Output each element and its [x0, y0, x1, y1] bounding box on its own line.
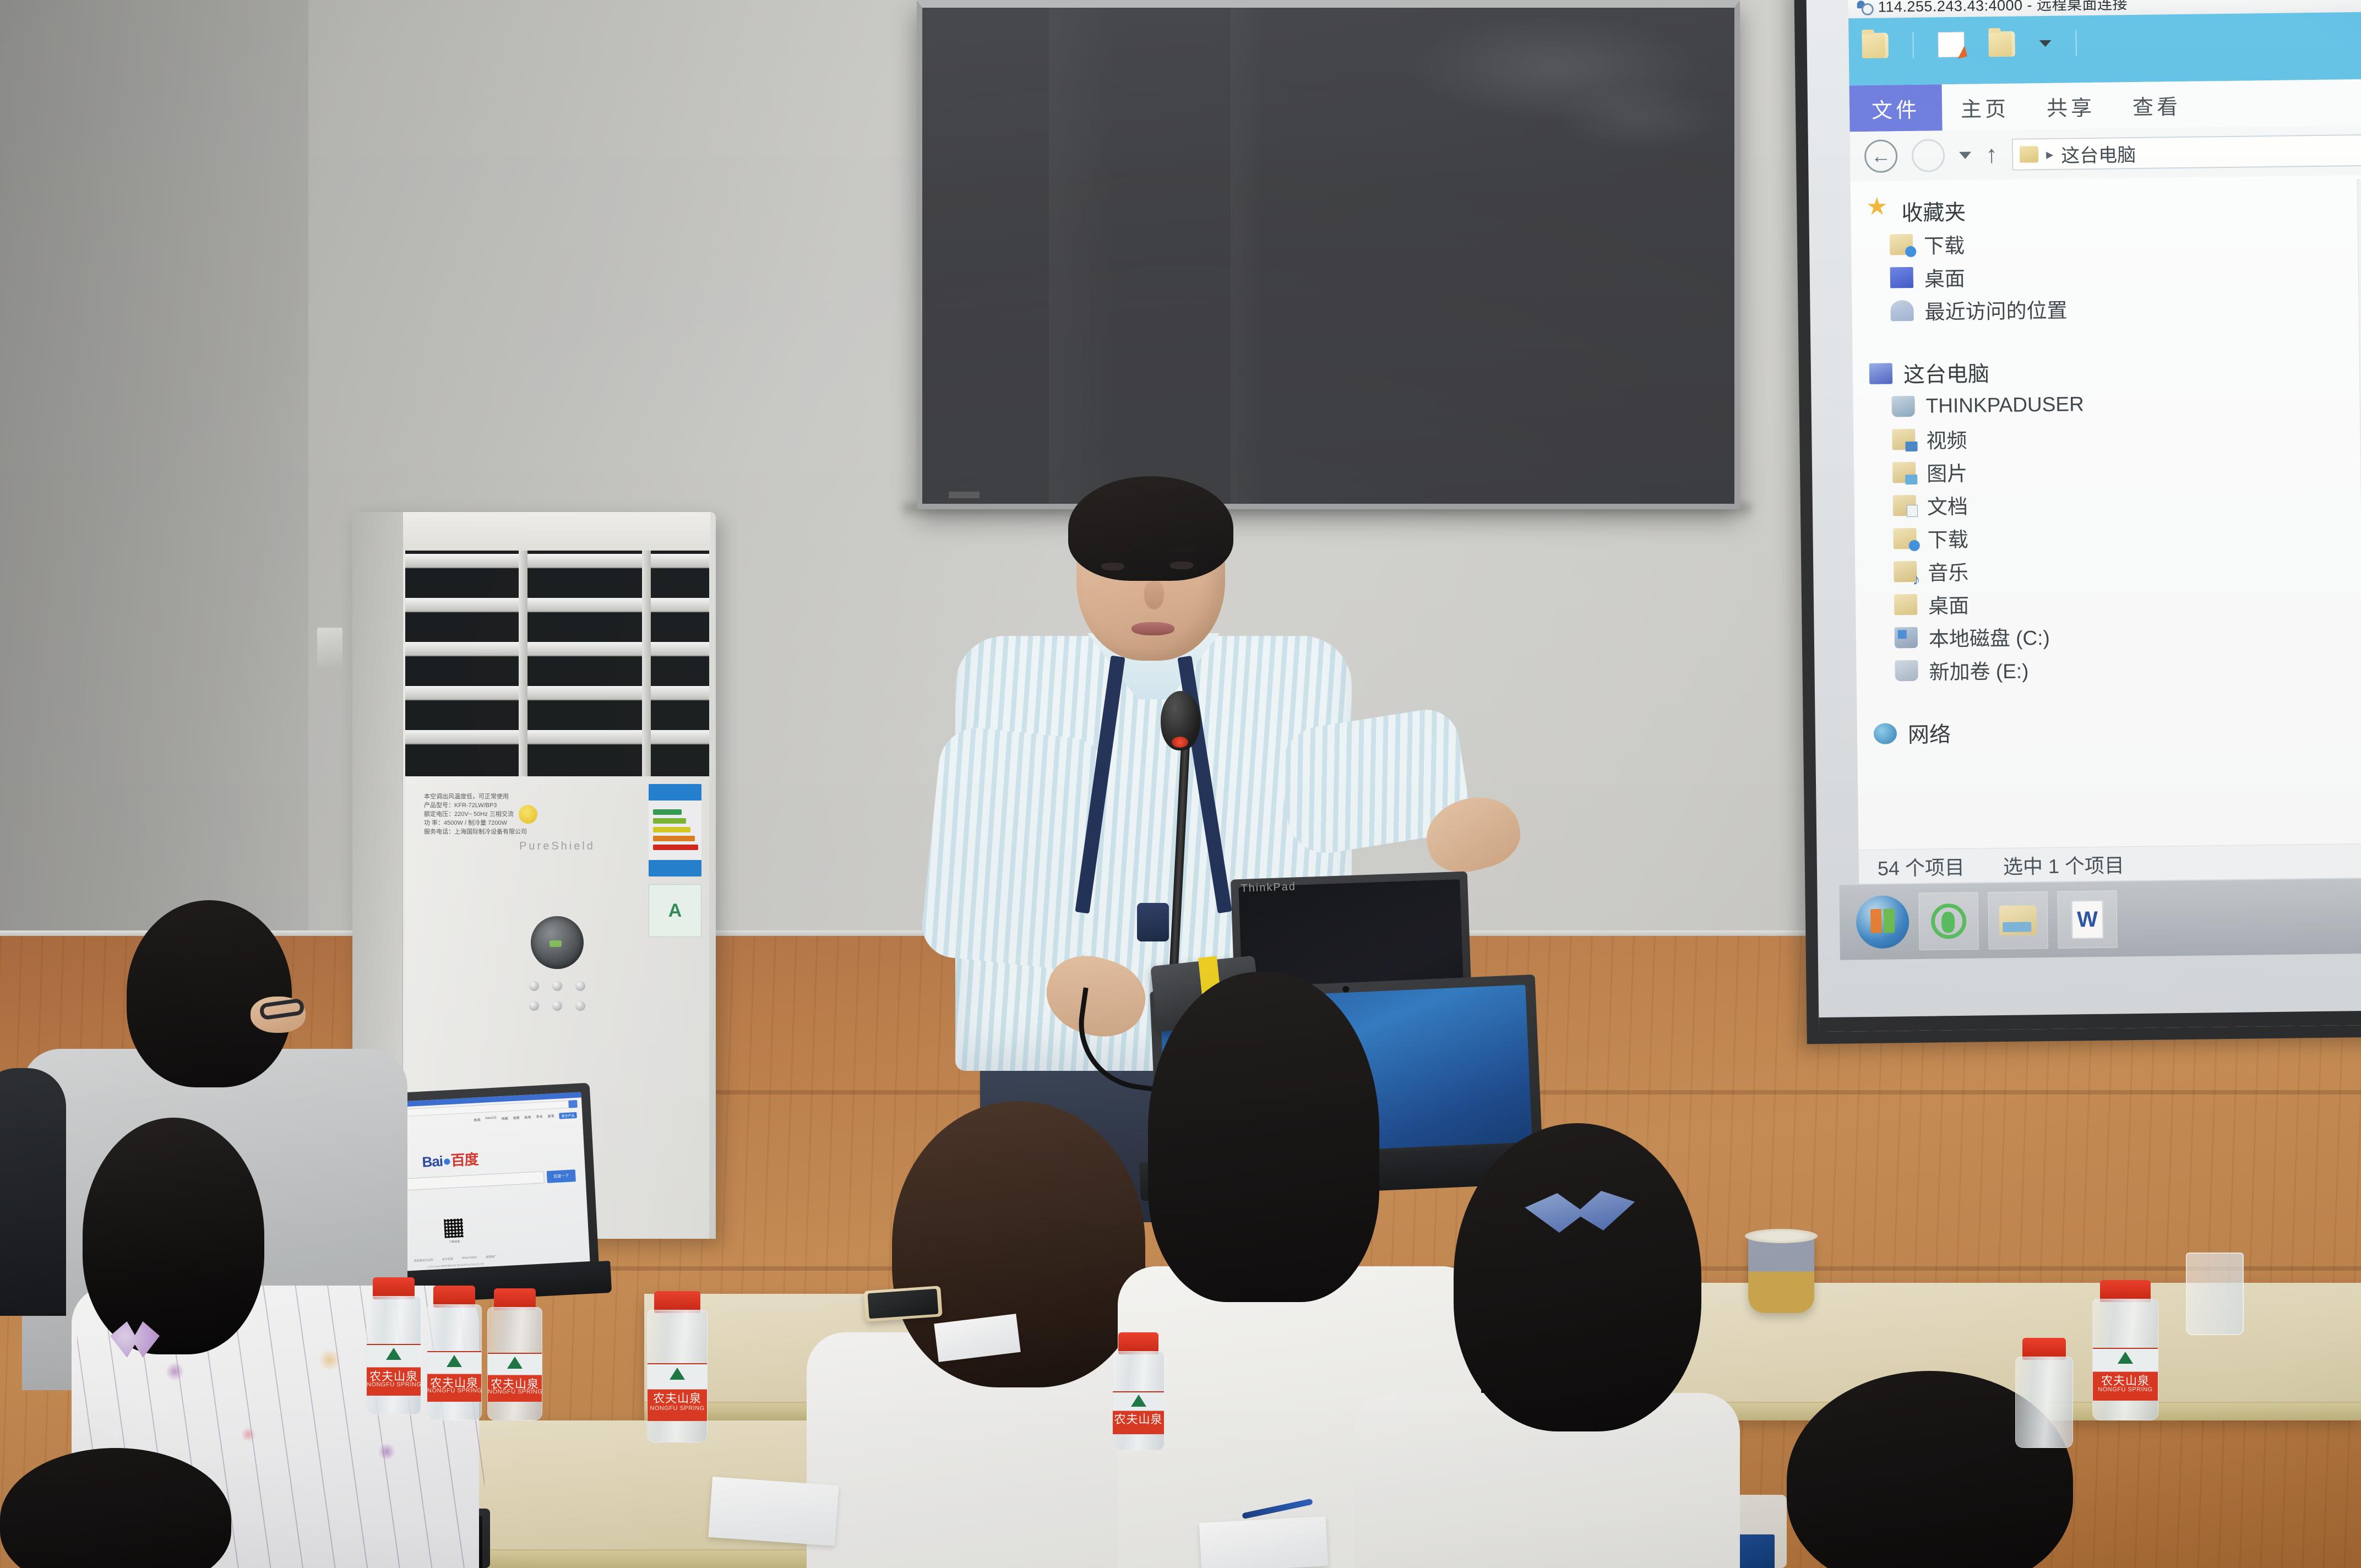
tree-label: 本地磁盘 (C:): [1928, 621, 2050, 652]
energy-saving-certificate-icon: A: [649, 884, 701, 937]
tree-label: 下载: [1924, 229, 1965, 259]
explorer-body: 收藏夹 下载 桌面 最近访问的位置: [1851, 175, 2361, 850]
ac-button[interactable]: [529, 981, 539, 991]
browser-taskbar-button[interactable]: [1918, 892, 1978, 950]
water-bottle[interactable]: 农夫山泉: [1112, 1332, 1165, 1451]
nav-link[interactable]: 地图: [501, 1115, 508, 1122]
tree-label: THINKPADUSER: [1925, 393, 2084, 418]
bottle-brand-en: NONGFU SPRING: [648, 1405, 707, 1412]
videos-folder-icon: [1892, 429, 1915, 450]
ac-button[interactable]: [575, 981, 585, 991]
microphone-led-indicator: [1172, 737, 1188, 748]
tree-label: 桌面: [1924, 262, 1966, 292]
bottle-brand-cn: 农夫山泉: [2093, 1375, 2158, 1387]
student-gray-sweatshirt-head: [127, 900, 292, 1087]
presenter-hair: [1068, 476, 1233, 581]
tree-label: 收藏夹: [1901, 195, 1966, 227]
tree-label: 音乐: [1928, 556, 1969, 586]
bottle-brand-cn: 农夫山泉: [648, 1392, 707, 1405]
ac-notice-line: 服务电话：上海国际制冷设备有限公司: [424, 828, 538, 837]
desktop-icon: [1890, 267, 1913, 288]
volume-icon: [1895, 660, 1918, 682]
tree-label: 文档: [1927, 490, 1968, 520]
folder-icon: [1999, 905, 2037, 935]
navigation-pane[interactable]: 收藏夹 下载 桌面 最近访问的位置: [1851, 175, 2361, 850]
back-arrow-icon[interactable]: ←: [1864, 139, 1898, 173]
presenter-eye-right: [1170, 562, 1193, 569]
thinkpad-logo: ThinkPad: [1241, 880, 1296, 895]
pictures-folder-icon: [1892, 462, 1916, 483]
remote-desktop-icon: [1857, 0, 1872, 13]
bottle-body: 农夫山泉 NONGFU SPRING: [2092, 1299, 2158, 1420]
tree-label: 新加卷 (E:): [1929, 654, 2029, 685]
tree-item-downloads-2[interactable]: 下载: [1871, 516, 2361, 556]
breadcrumb[interactable]: ▸ 这台电脑: [2012, 134, 2361, 171]
projection-surface: 114.255.243.43:4000 - 远程桌面连接 文件 主页 共享 查看: [1806, 0, 2361, 1032]
downloads-folder-icon: [1890, 234, 1913, 255]
word-icon: W: [2071, 900, 2104, 939]
explorer-status-bar: 54 个项目 选中 1 个项目: [1859, 843, 2361, 884]
tree-item-local-disk-c[interactable]: 本地磁盘 (C:): [1872, 616, 2361, 655]
tree-item-pictures[interactable]: 图片: [1870, 450, 2361, 489]
downloads-folder-icon: [1893, 528, 1916, 549]
bottle-body: 农夫山泉 NONGFU SPRING: [366, 1296, 421, 1415]
baidu-search-button[interactable]: 百度一下: [547, 1169, 576, 1183]
bottle-brand-en: NONGFU SPRING: [367, 1381, 421, 1388]
tab-home[interactable]: 主页: [1942, 83, 2028, 130]
display-logo: [949, 492, 980, 498]
bottle-body: 农夫山泉: [1112, 1351, 1165, 1451]
tree-item-videos[interactable]: 视频: [1870, 417, 2361, 456]
baidu-more-products-button[interactable]: 更多产品: [559, 1112, 577, 1119]
nav-link[interactable]: 学术: [536, 1114, 543, 1120]
word-taskbar-button[interactable]: W: [2057, 891, 2117, 949]
presenter-nose: [1144, 581, 1164, 609]
mountain-logo-icon: [1131, 1395, 1146, 1407]
tree-item-network[interactable]: 网络: [1874, 711, 2361, 750]
star-icon: [1867, 201, 1890, 222]
this-pc-icon: [1869, 363, 1892, 384]
windows-start-orb-icon[interactable]: [1856, 895, 1910, 949]
ac-button[interactable]: [552, 981, 562, 991]
network-icon: [1874, 723, 1897, 744]
recent-places-icon: [1890, 300, 1913, 322]
mountain-logo-icon: [507, 1357, 523, 1369]
scroll-up-icon[interactable]: ⌃: [2358, 180, 2361, 202]
tree-item-recent-places[interactable]: 最近访问的位置: [1868, 288, 2361, 328]
classroom-scene: 114.255.243.43:4000 - 远程桌面连接 文件 主页 共享 查看: [0, 0, 2361, 1568]
phone-screen: [868, 1289, 939, 1319]
student-blue-ribbon-head: [1454, 1123, 1701, 1431]
water-bottle[interactable]: 农夫山泉 NONGFU SPRING: [427, 1286, 482, 1420]
tree-item-favorites[interactable]: 收藏夹: [1867, 189, 2361, 228]
ac-air-outlet-grille: [405, 551, 709, 776]
nav-link[interactable]: 新闻: [474, 1117, 481, 1124]
folder-icon[interactable]: [1988, 31, 2015, 57]
breadcrumb-separator: ▸: [2046, 145, 2053, 162]
baidu-nav-links[interactable]: 新闻 hao123 地图 视频 贴吧 学术 登录 更多产品: [474, 1112, 576, 1124]
mountain-logo-icon: [447, 1355, 462, 1367]
address-bar[interactable]: ← ↑ ▸ 这台电脑: [1850, 126, 2361, 182]
bottle-label: 农夫山泉 NONGFU SPRING: [2093, 1348, 2158, 1401]
tree-label: 最近访问的位置: [1924, 294, 2068, 325]
green-browser-icon: [1931, 903, 1967, 939]
water-bottle[interactable]: 农夫山泉 NONGFU SPRING: [366, 1277, 421, 1415]
student-white-blouse-right-head: [1148, 972, 1379, 1302]
ac-button[interactable]: [575, 1001, 585, 1011]
bottle-label: 农夫山泉 NONGFU SPRING: [367, 1344, 421, 1396]
bottle-label: 农夫山泉: [1113, 1391, 1164, 1435]
folder-icon[interactable]: [1862, 32, 1889, 58]
badge-clip: [1137, 903, 1169, 941]
chevron-down-icon[interactable]: [2039, 40, 2052, 47]
tree-label: 桌面: [1928, 589, 1970, 619]
toolbar-divider: [2075, 30, 2077, 56]
documents-folder-icon: [1893, 495, 1916, 516]
tree-item-music[interactable]: 音乐: [1872, 549, 2361, 589]
footer-link[interactable]: About Baidu: [462, 1256, 477, 1260]
toolbar-divider: [1912, 32, 1914, 58]
mountain-logo-icon: [670, 1368, 685, 1380]
breadcrumb-current: 这台电脑: [2061, 139, 2136, 167]
ac-brand-label: PureShield: [519, 840, 595, 853]
ac-button[interactable]: [552, 1001, 562, 1011]
nav-link[interactable]: 贴吧: [524, 1114, 531, 1121]
energy-efficiency-label: [649, 784, 701, 876]
tab-view[interactable]: 查看: [2114, 81, 2200, 129]
windows-taskbar[interactable]: W: [1839, 878, 2361, 960]
laptop-webcam-icon: [1342, 986, 1350, 993]
tab-file[interactable]: 文件: [1849, 84, 1943, 132]
tree-label: 这台电脑: [1903, 357, 1990, 389]
forward-arrow-icon[interactable]: [1912, 139, 1945, 172]
footer-link[interactable]: 把百度设为主页: [414, 1258, 433, 1263]
mountain-logo-icon: [2118, 1352, 2133, 1364]
paste-properties-icon[interactable]: [1938, 32, 1965, 58]
explorer-taskbar-button[interactable]: [1988, 891, 2048, 949]
tree-item-downloads[interactable]: 下载: [1868, 222, 2361, 262]
history-chevron-down-icon[interactable]: [1959, 151, 1971, 159]
bottle-brand-en: NONGFU SPRING: [488, 1389, 542, 1395]
up-arrow-icon[interactable]: ↑: [1985, 143, 1998, 167]
local-disk-icon: [1895, 627, 1918, 649]
water-bottle[interactable]: 农夫山泉 NONGFU SPRING: [2092, 1280, 2158, 1420]
student-floral-blouse-head: [83, 1118, 264, 1354]
tab-share[interactable]: 共享: [2028, 82, 2114, 129]
drinking-glass[interactable]: [2186, 1253, 2244, 1335]
presenter-eye-left: [1101, 563, 1124, 570]
bottle-body: 农夫山泉 NONGFU SPRING: [427, 1304, 482, 1420]
desktop-folder-icon: [1894, 594, 1917, 616]
ac-top-cap: [403, 512, 710, 551]
ac-notice-line: 本空调出风温度低，可正常使用: [424, 793, 538, 802]
water-bottle[interactable]: 农夫山泉 NONGFU SPRING: [647, 1291, 708, 1442]
bottle-body: [2015, 1357, 2073, 1448]
bottle-label: 农夫山泉 NONGFU SPRING: [427, 1351, 481, 1402]
baidu-logo: Bai●百度: [421, 1148, 478, 1171]
presenter-mouth: [1131, 622, 1174, 635]
projection-screen: 114.255.243.43:4000 - 远程桌面连接 文件 主页 共享 查看: [1794, 0, 2361, 1044]
tree-item-new-volume-e[interactable]: 新加卷 (E:): [1873, 649, 2361, 688]
bottle-brand-en: NONGFU SPRING: [2093, 1386, 2158, 1393]
ribbon-tabs[interactable]: 文件 主页 共享 查看: [1849, 79, 2361, 132]
cup-rim: [1745, 1229, 1818, 1243]
bottle-brand-cn: 农夫山泉: [1113, 1413, 1164, 1426]
quick-access-toolbar[interactable]: [1848, 12, 2361, 86]
nav-link[interactable]: 视频: [513, 1115, 520, 1121]
status-selection: 选中 1 个项目: [2003, 850, 2125, 880]
qr-caption: 下载百度: [449, 1239, 460, 1244]
ac-display-dial[interactable]: [531, 916, 584, 969]
wall-left-shadow: [0, 0, 308, 936]
tree-label: 视频: [1926, 424, 1967, 454]
this-pc-folder-icon: [2020, 146, 2038, 162]
display-screen: [922, 8, 1734, 504]
bottle-label: 农夫山泉 NONGFU SPRING: [488, 1353, 542, 1402]
tree-item-desktop[interactable]: 桌面: [1868, 255, 2361, 295]
tree-item-documents[interactable]: 文档: [1871, 483, 2361, 522]
student-far-left-shoulder: [0, 1068, 66, 1316]
remote-desktop-title: 114.255.243.43:4000 - 远程桌面连接: [1878, 0, 2128, 16]
baidu-qr-code: [444, 1218, 464, 1238]
bottle-label: 农夫山泉 NONGFU SPRING: [648, 1363, 707, 1421]
smartphone[interactable]: [863, 1286, 943, 1322]
tree-label: 下载: [1927, 523, 1968, 553]
tree-item-desktop-2[interactable]: 桌面: [1872, 582, 2361, 622]
smiley-sticker-icon: [519, 805, 537, 824]
tree-label: 网络: [1908, 717, 1951, 749]
tree-label: 图片: [1927, 457, 1968, 487]
status-item-count: 54 个项目: [1878, 851, 1965, 881]
bottle-body: 农夫山泉 NONGFU SPRING: [647, 1310, 708, 1442]
mountain-logo-icon: [386, 1348, 401, 1360]
tree-item-this-pc[interactable]: 这台电脑: [1869, 351, 2361, 390]
user-drive-icon: [1891, 396, 1914, 417]
projection-bottom-bar: [1819, 1010, 2361, 1032]
tree-item-thinkpaduser[interactable]: THINKPADUSER: [1869, 384, 2361, 423]
paper-sheet[interactable]: [708, 1477, 839, 1546]
wall-mounted-display[interactable]: [917, 0, 1740, 509]
presenter-left-arm: [919, 724, 1107, 971]
ceramic-cup[interactable]: [1748, 1233, 1814, 1313]
bottle-body: 农夫山泉 NONGFU SPRING: [487, 1307, 542, 1420]
ac-control-buttons[interactable]: [529, 981, 585, 1011]
footer-link[interactable]: 百度推广: [486, 1255, 497, 1259]
nav-link[interactable]: 登录: [547, 1113, 554, 1120]
footer-link[interactable]: 关于百度: [442, 1257, 453, 1261]
nav-link[interactable]: hao123: [485, 1117, 497, 1123]
ac-button[interactable]: [529, 1001, 539, 1011]
bottle-brand-en: NONGFU SPRING: [427, 1387, 481, 1394]
wall-switch[interactable]: [317, 628, 342, 666]
water-bottle[interactable]: 农夫山泉 NONGFU SPRING: [487, 1288, 542, 1420]
browser-extension-icon[interactable]: [568, 1100, 578, 1108]
paper-sheet[interactable]: [1199, 1516, 1328, 1568]
music-folder-icon: [1894, 561, 1917, 582]
water-bottle[interactable]: [2015, 1338, 2073, 1448]
